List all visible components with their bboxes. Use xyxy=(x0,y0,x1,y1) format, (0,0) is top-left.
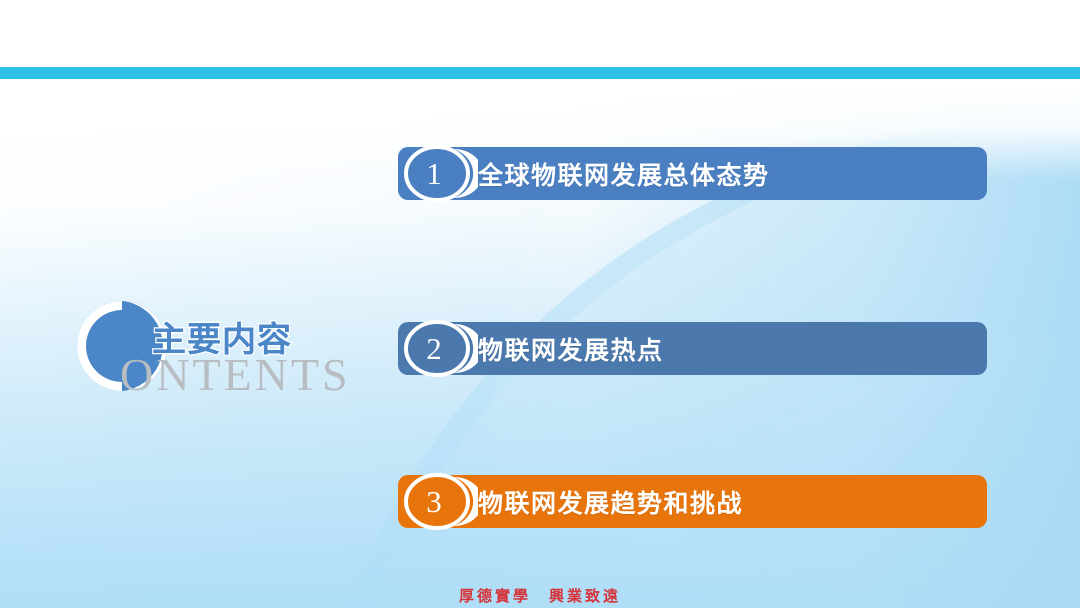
slide-canvas: 主要内容 主要内容 ONTENTS 1 全球物联网发展总体态势 2 xyxy=(0,0,1080,608)
agenda-number-3: 3 xyxy=(404,472,464,531)
footer-motto: 厚德實學 興業致遠 xyxy=(0,585,1080,606)
agenda-label-2: 物联网发展热点 xyxy=(478,331,664,367)
agenda-label-1: 全球物联网发展总体态势 xyxy=(478,156,770,192)
agenda-badge-2: 2 xyxy=(398,322,484,375)
agenda-item-2[interactable]: 2 物联网发展热点 xyxy=(398,322,987,375)
agenda-number-2: 2 xyxy=(404,319,464,378)
rule-stripe-5 xyxy=(0,77,1080,79)
agenda-badge-3: 3 xyxy=(398,475,484,528)
agenda-badge-1: 1 xyxy=(398,147,484,200)
agenda-label-3: 物联网发展趋势和挑战 xyxy=(478,484,743,520)
header-divider-rule xyxy=(0,67,1080,80)
agenda-number-1: 1 xyxy=(404,144,464,203)
logo-title-en: ONTENTS xyxy=(120,348,351,401)
contents-logo: 主要内容 主要内容 ONTENTS xyxy=(74,296,404,406)
agenda-item-1[interactable]: 1 全球物联网发展总体态势 xyxy=(398,147,987,200)
agenda-item-3[interactable]: 3 物联网发展趋势和挑战 xyxy=(398,475,987,528)
